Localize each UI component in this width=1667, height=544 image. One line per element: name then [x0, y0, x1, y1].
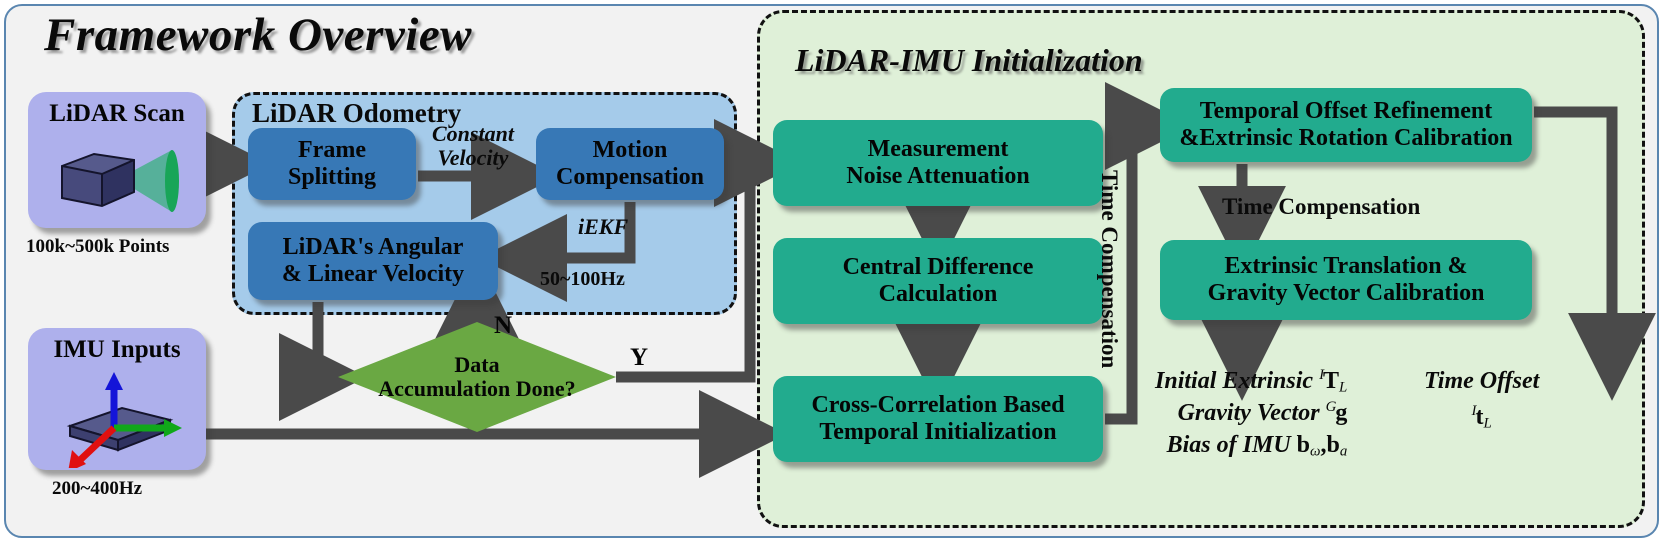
extrinsic-translation-box: Extrinsic Translation & Gravity Vector C… — [1160, 240, 1532, 320]
imu-axes-icon — [42, 368, 197, 468]
gravity-vector-symbol: Gg — [1326, 400, 1348, 426]
output-initial-extrinsic: Initial Extrinsic ITL — [1155, 366, 1347, 398]
motion-compensation-box: Motion Compensation — [536, 128, 724, 200]
cross-correlation-label: Cross-Correlation Based Temporal Initial… — [811, 392, 1064, 446]
temporal-offset-refinement-label: Temporal Offset Refinement &Extrinsic Ro… — [1179, 98, 1512, 152]
lidar-scan-caption: 100k~500k Points — [26, 236, 169, 258]
lidar-scan-card: LiDAR Scan — [28, 92, 206, 228]
output-gravity-vector: Gravity Vector Gg — [1155, 398, 1347, 430]
lidar-scan-title: LiDAR Scan — [28, 100, 206, 128]
lidar-velocity-label: LiDAR's Angular & Linear Velocity — [282, 234, 464, 288]
central-difference-label: Central Difference Calculation — [843, 254, 1034, 308]
time-offset-symbol: ItL — [1424, 402, 1539, 434]
output-imu-bias: Bias of IMU bω,ba — [1155, 430, 1347, 462]
branch-yes-label: Y — [630, 344, 648, 372]
initialization-outputs-left: Initial Extrinsic ITL Gravity Vector Gg … — [1155, 366, 1347, 462]
extrinsic-translation-label: Extrinsic Translation & Gravity Vector C… — [1208, 253, 1485, 307]
output-time-offset-label: Time Offset — [1424, 366, 1539, 398]
data-accumulation-decision: Data Accumulation Done? — [338, 322, 616, 432]
initialization-outputs-right: Time Offset ItL — [1424, 366, 1539, 434]
iekf-label: iEKF — [578, 214, 628, 240]
central-difference-box: Central Difference Calculation — [773, 238, 1103, 324]
framework-overview-diagram: Framework Overview LiDAR-IMU Initializat… — [0, 0, 1667, 544]
initial-extrinsic-symbol: ITL — [1319, 368, 1347, 394]
time-compensation-vertical-label: Time Compensation — [1096, 170, 1122, 368]
time-compensation-horizontal-label: Time Compensation — [1222, 194, 1420, 220]
measurement-noise-box: Measurement Noise Attenuation — [773, 120, 1103, 206]
lidar-scan-icon — [46, 136, 196, 222]
odometry-rate-label: 50~100Hz — [540, 268, 625, 291]
measurement-noise-label: Measurement Noise Attenuation — [846, 136, 1029, 190]
motion-compensation-label: Motion Compensation — [556, 137, 704, 191]
decision-label: Data Accumulation Done? — [338, 322, 616, 432]
imu-bias-symbol: bω,ba — [1297, 432, 1348, 458]
imu-inputs-caption: 200~400Hz — [52, 478, 142, 500]
lidar-velocity-box: LiDAR's Angular & Linear Velocity — [248, 222, 498, 300]
constant-velocity-label: Constant Velocity — [432, 122, 514, 170]
imu-inputs-card: IMU Inputs — [28, 328, 206, 470]
temporal-offset-refinement-box: Temporal Offset Refinement &Extrinsic Ro… — [1160, 88, 1532, 162]
frame-splitting-label: Frame Splitting — [288, 137, 376, 191]
frame-splitting-box: Frame Splitting — [248, 128, 416, 200]
branch-no-label: N — [494, 312, 512, 340]
imu-inputs-title: IMU Inputs — [28, 336, 206, 364]
cross-correlation-box: Cross-Correlation Based Temporal Initial… — [773, 376, 1103, 462]
